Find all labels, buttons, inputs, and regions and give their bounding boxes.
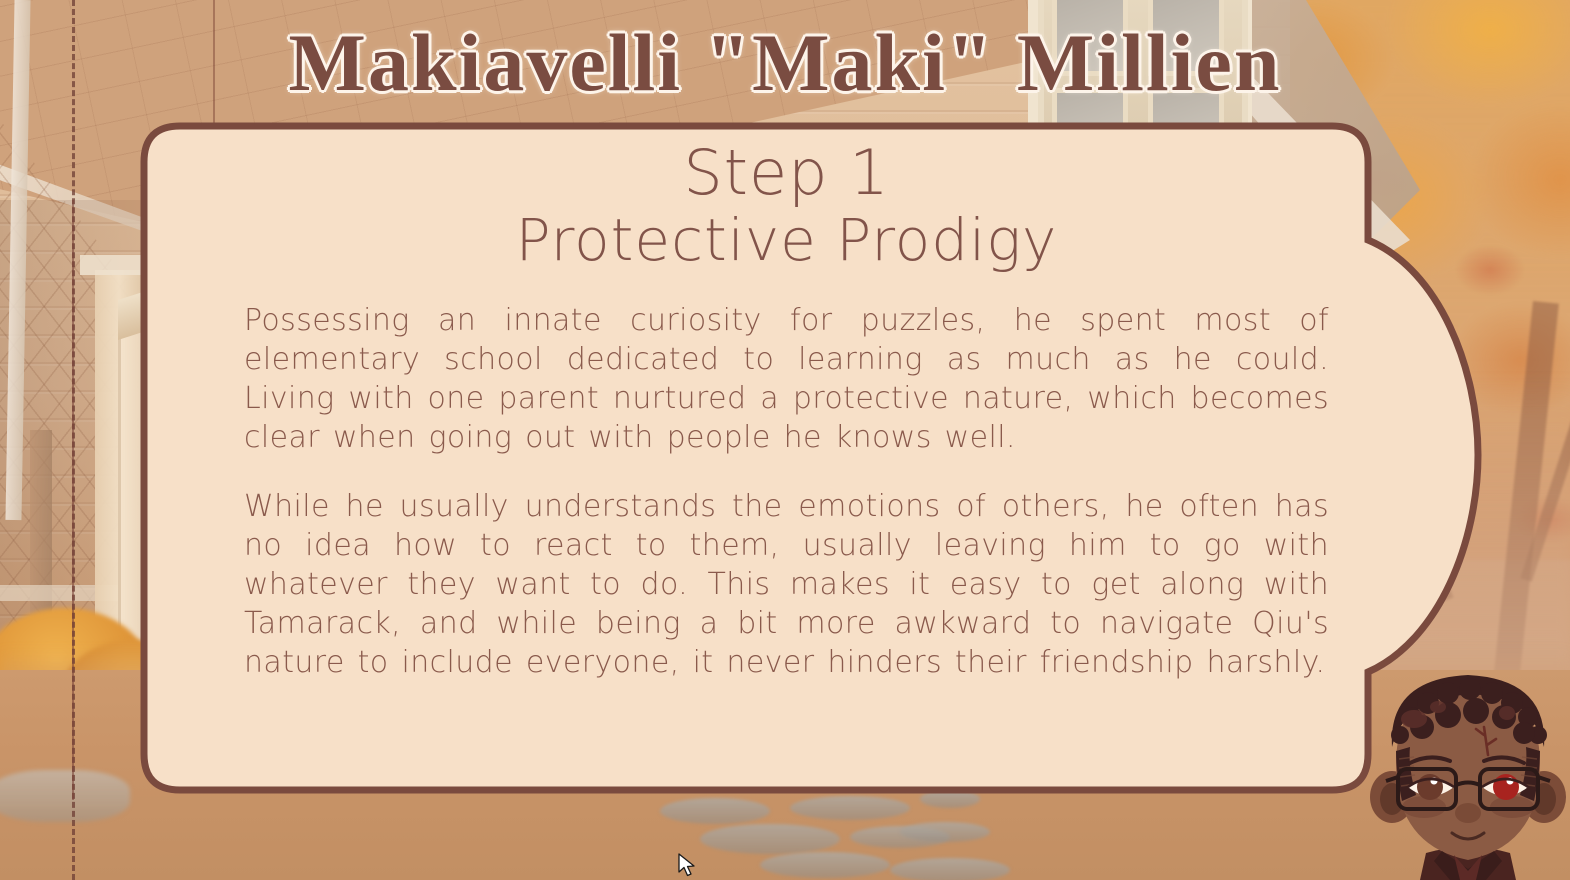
mouse-cursor: [678, 853, 698, 879]
cursor-icon: [678, 853, 698, 879]
character-portrait: [1366, 655, 1570, 880]
stepping-stone: [700, 824, 840, 854]
game-screen: Makiavelli "Maki" Millien Step 1 Protect…: [0, 0, 1570, 880]
dialogue-body: Possessing an innate curiosity for puzzl…: [244, 301, 1329, 682]
character-name-title: Makiavelli "Maki" Millien: [0, 16, 1570, 110]
step-name: Protective Prodigy: [244, 204, 1329, 277]
stepping-stone: [890, 858, 1010, 880]
stepping-stone: [900, 822, 990, 842]
dialogue-content: Step 1 Protective Prodigy Possessing an …: [244, 142, 1329, 682]
maki-portrait-art: [1366, 655, 1570, 880]
solid-guide-line: [72, 200, 74, 800]
step-number: Step 1: [244, 142, 1329, 204]
stepping-stone: [660, 798, 770, 824]
rock-pile: [0, 770, 130, 822]
stepping-stone: [760, 852, 890, 878]
dialogue-box: Step 1 Protective Prodigy Possessing an …: [140, 120, 1490, 800]
dialogue-paragraph-2: While he usually understands the emotion…: [244, 487, 1329, 682]
dialogue-paragraph-1: Possessing an innate curiosity for puzzl…: [244, 301, 1329, 457]
